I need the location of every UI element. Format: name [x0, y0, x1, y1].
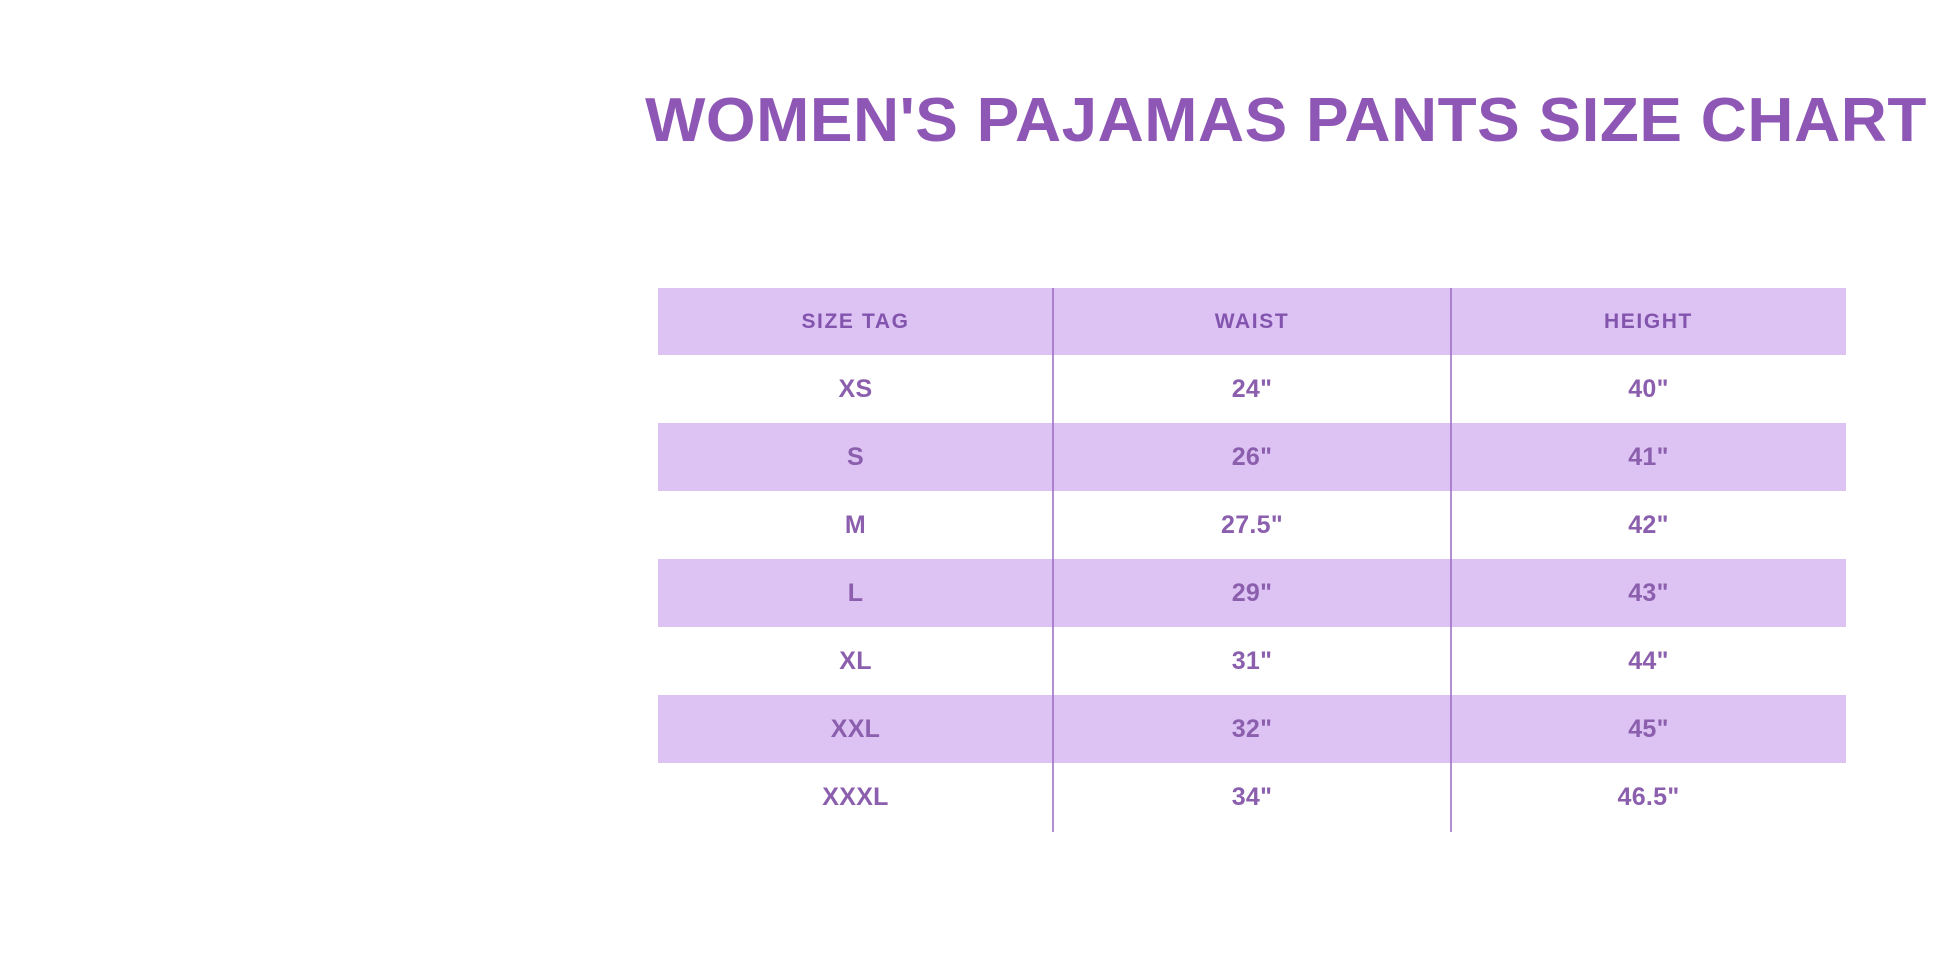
column-header-waist: WAIST — [1053, 288, 1451, 355]
table-row: M 27.5" 42" — [658, 491, 1846, 559]
cell-waist: 31" — [1053, 627, 1451, 695]
cell-height: 41" — [1451, 423, 1846, 491]
cell-size-tag: L — [658, 559, 1053, 627]
cell-waist: 32" — [1053, 695, 1451, 763]
cell-height: 40" — [1451, 355, 1846, 423]
cell-height: 46.5" — [1451, 763, 1846, 831]
table-row: XS 24" 40" — [658, 355, 1846, 423]
cell-height: 44" — [1451, 627, 1846, 695]
cell-waist: 34" — [1053, 763, 1451, 831]
table-row: XXL 32" 45" — [658, 695, 1846, 763]
cell-height: 42" — [1451, 491, 1846, 559]
cell-size-tag: XXL — [658, 695, 1053, 763]
cell-waist: 29" — [1053, 559, 1451, 627]
cell-waist: 26" — [1053, 423, 1451, 491]
table-header: SIZE TAG WAIST HEIGHT — [658, 288, 1846, 355]
cell-size-tag: XL — [658, 627, 1053, 695]
table-row: XL 31" 44" — [658, 627, 1846, 695]
cell-size-tag: XXXL — [658, 763, 1053, 831]
cell-size-tag: S — [658, 423, 1053, 491]
table-row: L 29" 43" — [658, 559, 1846, 627]
cell-height: 45" — [1451, 695, 1846, 763]
size-chart-table: SIZE TAG WAIST HEIGHT XS 24" 40" S 26" 4… — [658, 288, 1846, 831]
table-header-row: SIZE TAG WAIST HEIGHT — [658, 288, 1846, 355]
size-chart-page: WOMEN'S PAJAMAS PANTS SIZE CHART SIZE TA… — [0, 0, 1946, 973]
cell-size-tag: M — [658, 491, 1053, 559]
page-title: WOMEN'S PAJAMAS PANTS SIZE CHART — [641, 88, 1931, 153]
cell-height: 43" — [1451, 559, 1846, 627]
cell-waist: 27.5" — [1053, 491, 1451, 559]
column-header-size-tag: SIZE TAG — [658, 288, 1053, 355]
column-header-height: HEIGHT — [1451, 288, 1846, 355]
table-body: XS 24" 40" S 26" 41" M 27.5" 42" L 29" — [658, 355, 1846, 831]
cell-size-tag: XS — [658, 355, 1053, 423]
table-row: S 26" 41" — [658, 423, 1846, 491]
table-row: XXXL 34" 46.5" — [658, 763, 1846, 831]
cell-waist: 24" — [1053, 355, 1451, 423]
size-chart-table-container: SIZE TAG WAIST HEIGHT XS 24" 40" S 26" 4… — [658, 288, 1846, 831]
